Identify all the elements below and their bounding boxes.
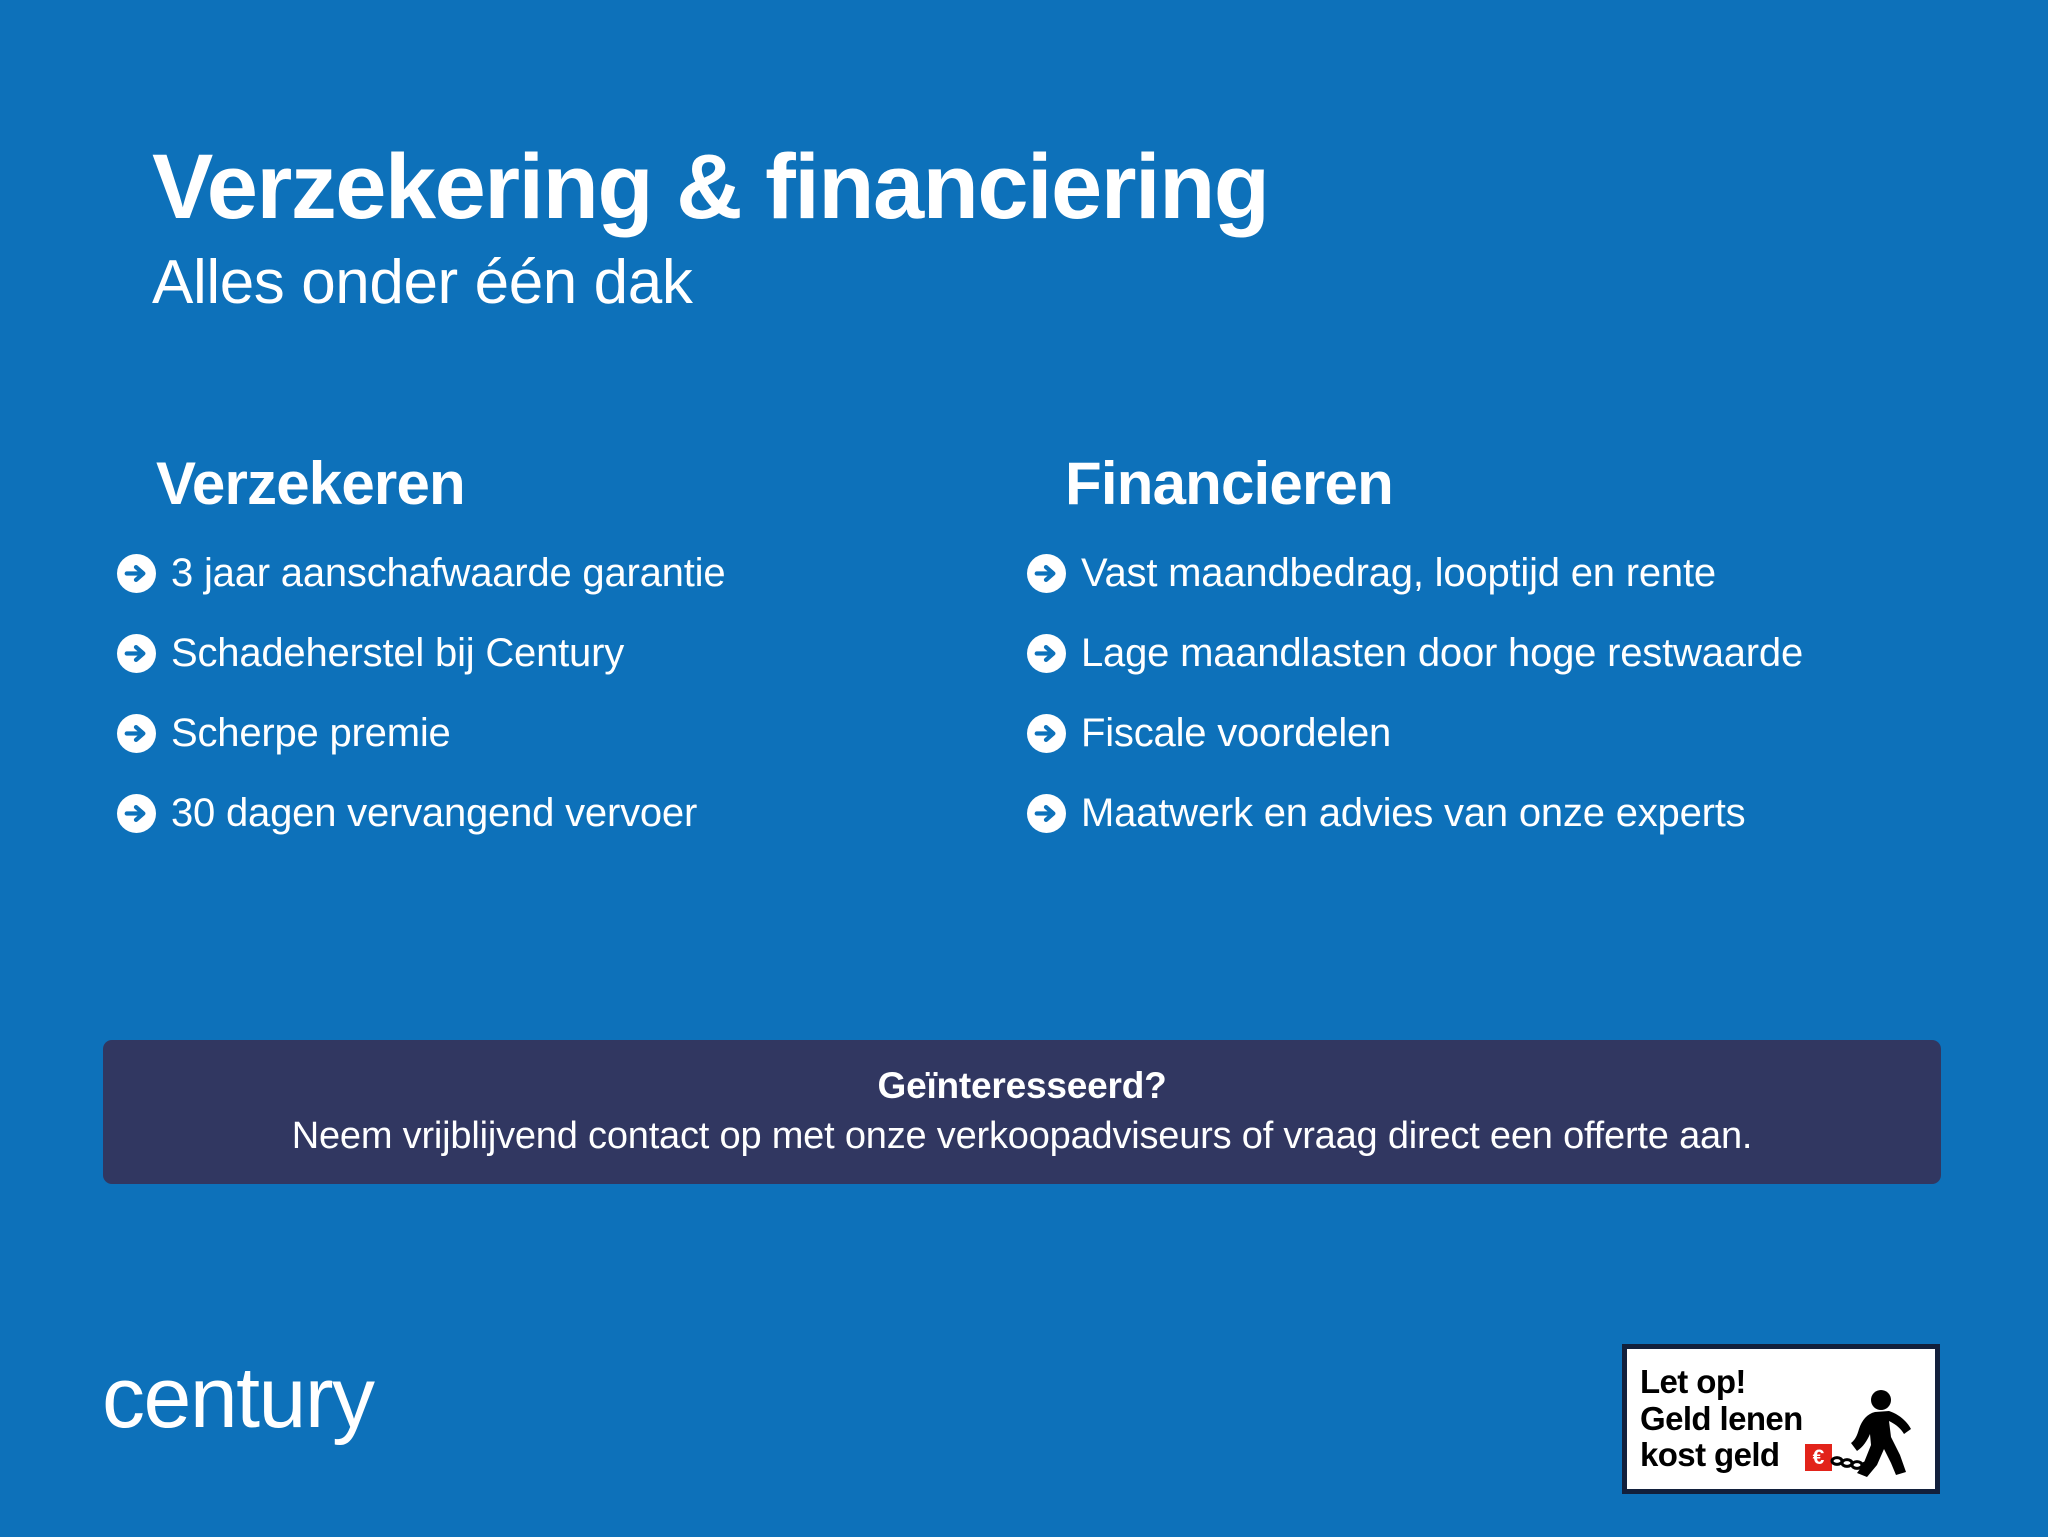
svg-text:€: € [1812, 1446, 1824, 1469]
column-verzekeren: Verzekeren 3 jaar aanschafwaarde garanti… [152, 452, 1065, 835]
column-heading-financieren: Financieren [1065, 452, 1945, 515]
list-item-label: Fiscale voordelen [1081, 711, 1391, 755]
century-logo: century [102, 1355, 374, 1441]
warning-line-1: Let op! [1640, 1364, 1803, 1401]
arrow-circle-right-icon [117, 634, 156, 673]
arrow-circle-right-icon [1027, 714, 1066, 753]
cta-text: Neem vrijblijvend contact op met onze ve… [292, 1114, 1752, 1160]
list-item-label: Vast maandbedrag, looptijd en rente [1081, 551, 1716, 595]
header: Verzekering & financiering Alles onder é… [152, 138, 1852, 319]
cta-title: Geïnteresseerd? [877, 1064, 1166, 1108]
slide-root: Verzekering & financiering Alles onder é… [0, 0, 2048, 1537]
list-item-label: Schadeherstel bij Century [171, 631, 624, 675]
list-item: 3 jaar aanschafwaarde garantie [156, 551, 1065, 595]
arrow-circle-right-icon [1027, 634, 1066, 673]
arrow-circle-right-icon [117, 794, 156, 833]
bullet-list-verzekeren: 3 jaar aanschafwaarde garantie Schadeher… [156, 551, 1065, 835]
bullet-list-financieren: Vast maandbedrag, looptijd en rente Lage… [1065, 551, 1945, 835]
column-heading-verzekeren: Verzekeren [156, 452, 1065, 515]
column-financieren: Financieren Vast maandbedrag, looptijd e… [1065, 452, 1945, 835]
cta-banner[interactable]: Geïnteresseerd? Neem vrijblijvend contac… [103, 1040, 1941, 1184]
warning-line-2: Geld lenen [1640, 1401, 1803, 1438]
list-item-label: 30 dagen vervangend vervoer [171, 791, 697, 835]
feature-columns: Verzekeren 3 jaar aanschafwaarde garanti… [152, 452, 1952, 835]
page-title: Verzekering & financiering [152, 138, 1852, 237]
list-item: Scherpe premie [156, 711, 1065, 755]
page-subtitle: Alles onder één dak [152, 247, 1852, 318]
list-item: Lage maandlasten door hoge restwaarde [1065, 631, 1945, 675]
list-item-label: Maatwerk en advies van onze experts [1081, 791, 1745, 835]
loan-warning-box: Let op! Geld lenen kost geld € [1622, 1344, 1940, 1494]
list-item-label: Scherpe premie [171, 711, 451, 755]
list-item: Schadeherstel bij Century [156, 631, 1065, 675]
arrow-circle-right-icon [117, 714, 156, 753]
arrow-circle-right-icon [1027, 794, 1066, 833]
arrow-circle-right-icon [117, 554, 156, 593]
list-item-label: Lage maandlasten door hoge restwaarde [1081, 631, 1803, 675]
list-item: 30 dagen vervangend vervoer [156, 791, 1065, 835]
list-item: Maatwerk en advies van onze experts [1065, 791, 1945, 835]
list-item: Fiscale voordelen [1065, 711, 1945, 755]
arrow-circle-right-icon [1027, 554, 1066, 593]
warning-line-3: kost geld [1640, 1437, 1803, 1474]
walking-person-with-euro-ball-and-chain-icon: € [1805, 1387, 1913, 1483]
warning-text-block: Let op! Geld lenen kost geld [1640, 1364, 1803, 1475]
list-item: Vast maandbedrag, looptijd en rente [1065, 551, 1945, 595]
list-item-label: 3 jaar aanschafwaarde garantie [171, 551, 725, 595]
